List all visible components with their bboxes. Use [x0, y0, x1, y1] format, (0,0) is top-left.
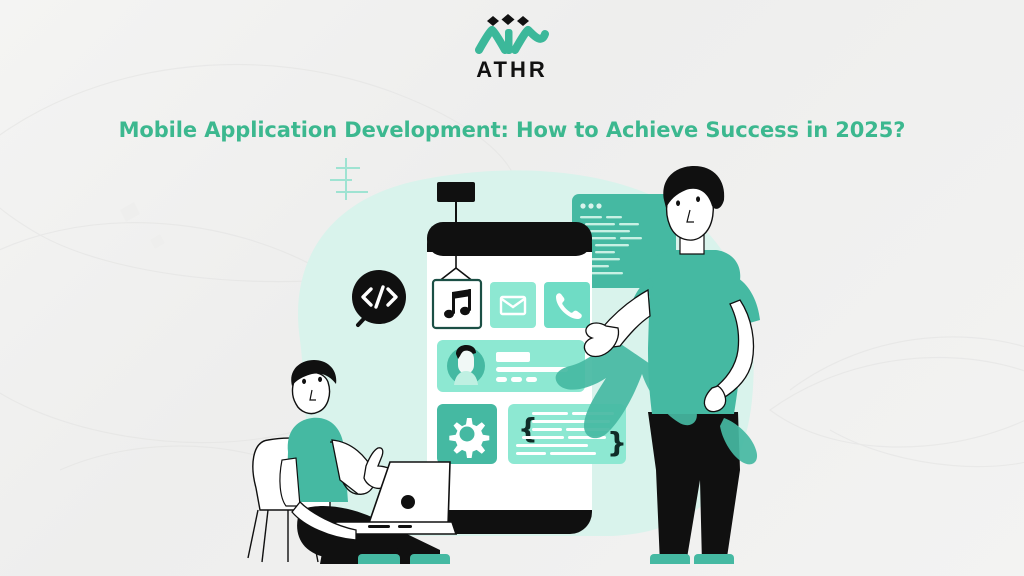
- shoe: [694, 554, 734, 564]
- athr-wave-mark-icon: [475, 14, 549, 58]
- logo-wordmark: ATHR: [476, 59, 547, 81]
- settings-tile[interactable]: [437, 404, 497, 464]
- code-close-brace: }: [607, 426, 627, 459]
- phone-top-bar: [427, 222, 592, 256]
- shoe: [410, 554, 450, 564]
- phone-tile[interactable]: [544, 282, 590, 328]
- page-title: Mobile Application Development: How to A…: [0, 118, 1024, 142]
- shoe: [650, 554, 690, 564]
- gear-icon: [449, 418, 489, 458]
- email-tile[interactable]: [490, 282, 536, 328]
- brand-logo[interactable]: ATHR: [0, 14, 1024, 81]
- decorative-dashes-left: [330, 158, 368, 200]
- hanger-block: [437, 182, 475, 202]
- shoe: [358, 554, 400, 564]
- hero-illustration: { }: [0, 150, 1024, 576]
